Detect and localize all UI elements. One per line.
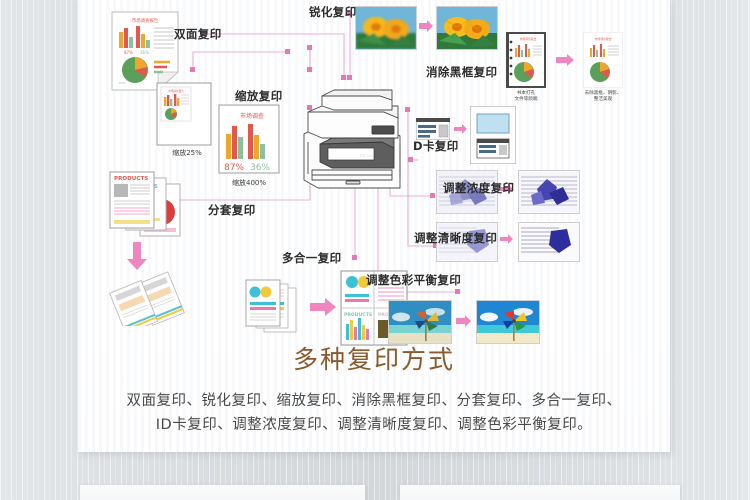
feature-description-line-2: ID卡复印、调整浓度复印、调整清晰度复印、调整色彩平衡复印。 bbox=[78, 414, 670, 438]
erase-after-document: 市场调查报告 bbox=[583, 32, 623, 88]
label-sharpen: 锐化复印 bbox=[309, 4, 357, 20]
svg-text:87%: 87% bbox=[124, 50, 133, 55]
feature-description: 双面复印、锐化复印、缩放复印、消除黑框复印、分套复印、多合一复印、 ID卡复印、… bbox=[78, 390, 670, 438]
svg-text:市场调查报告: 市场调查报告 bbox=[132, 17, 159, 24]
color-balance-arrow bbox=[456, 315, 471, 327]
next-section-card-right bbox=[400, 485, 680, 500]
svg-text:市场调查: 市场调查 bbox=[240, 112, 264, 120]
erase-after-caption: 去除黑框、阴影、整洁美观 bbox=[573, 91, 633, 103]
collate-down-arrow bbox=[126, 242, 148, 270]
svg-text:RICOH: RICOH bbox=[360, 153, 373, 158]
id-card-result bbox=[470, 106, 516, 164]
label-collate: 分套复印 bbox=[208, 202, 256, 218]
density-after-photo bbox=[518, 170, 580, 214]
sharpness-arrow bbox=[500, 234, 513, 244]
svg-text:PRODUCTS: PRODUCTS bbox=[344, 312, 372, 318]
svg-text:36%: 36% bbox=[140, 50, 149, 55]
id-card-arrow bbox=[454, 124, 467, 134]
sharpen-before-photo bbox=[355, 6, 417, 50]
zoom-400-document: 市场调查 87% 36% bbox=[218, 104, 280, 176]
label-color-balance: 调整色彩平衡复印 bbox=[366, 272, 461, 288]
footer-section: 多种复印方式 双面复印、锐化复印、缩放复印、消除黑框复印、分套复印、多合一复印、… bbox=[78, 340, 670, 438]
svg-text:63%: 63% bbox=[119, 81, 126, 85]
erase-before-caption: 书本打孔文件等顽端 bbox=[496, 91, 556, 103]
svg-text:36%: 36% bbox=[250, 163, 270, 173]
svg-text:市场调查报告: 市场调查报告 bbox=[595, 37, 612, 41]
label-nup: 多合一复印 bbox=[282, 250, 342, 266]
label-erase-border: 消除黑框复印 bbox=[426, 64, 497, 80]
color-balance-after-photo bbox=[476, 300, 540, 344]
label-duplex: 双面复印 bbox=[174, 26, 222, 42]
next-section-card-left bbox=[80, 485, 365, 500]
color-balance-before-photo bbox=[388, 300, 452, 344]
collate-output-stack bbox=[96, 268, 206, 326]
zoom-25-caption: 缩放25% bbox=[161, 148, 213, 158]
erase-arrow bbox=[556, 54, 574, 66]
feature-description-line-1: 双面复印、锐化复印、缩放复印、消除黑框复印、分套复印、多合一复印、 bbox=[78, 390, 670, 414]
collate-source-stack: CTS PRODUCTS bbox=[96, 168, 206, 240]
svg-text:PRODUCTS: PRODUCTS bbox=[114, 176, 148, 182]
erase-before-document: 市场调查报告 bbox=[506, 32, 546, 88]
nup-source-stack bbox=[240, 278, 310, 338]
sharpen-arrow bbox=[419, 20, 433, 32]
sharpness-after-photo bbox=[518, 222, 580, 262]
label-zoom: 缩放复印 bbox=[235, 88, 283, 104]
multifunction-printer: RICOH bbox=[288, 82, 418, 194]
svg-text:市场调查报告: 市场调查报告 bbox=[520, 37, 537, 41]
sharpen-after-photo bbox=[436, 6, 498, 50]
nup-arrow bbox=[310, 298, 336, 316]
svg-text:87%: 87% bbox=[224, 163, 244, 173]
report-document-duplex: 市场调查报告 87% 36% 63% bbox=[110, 10, 180, 92]
label-id-card: D卡复印 bbox=[413, 138, 459, 154]
label-density: 调整浓度复印 bbox=[443, 180, 514, 196]
page-headline: 多种复印方式 bbox=[78, 340, 670, 376]
zoom-400-caption: 缩放400% bbox=[218, 178, 280, 188]
id-card-source bbox=[416, 118, 450, 140]
label-sharpness: 调整清晰度复印 bbox=[414, 230, 497, 246]
main-content-card: 市场调查报告 87% 36% 63% bbox=[78, 0, 670, 452]
svg-text:市场调查报告: 市场调查报告 bbox=[168, 89, 184, 93]
